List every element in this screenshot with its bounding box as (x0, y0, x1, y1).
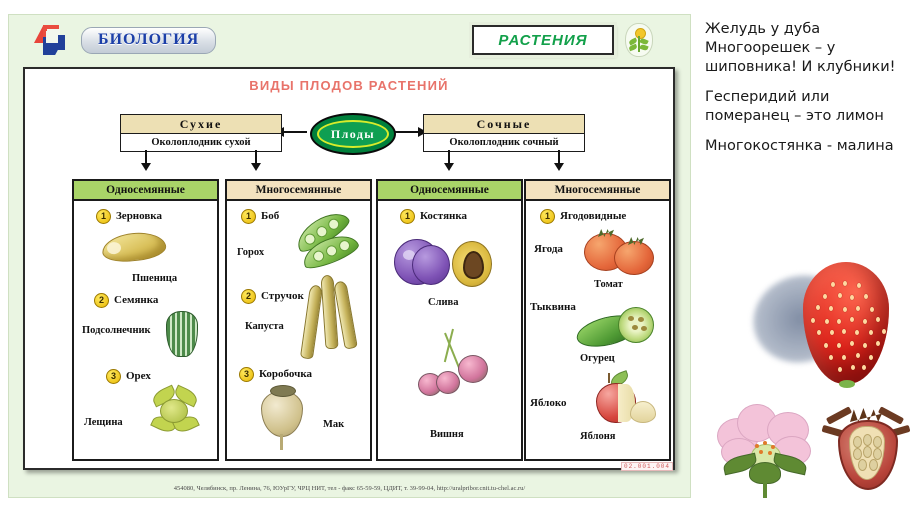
column-body: 1Боб Горох 2Стручок Капуста (227, 201, 370, 461)
topic-label: РАСТЕНИЯ (498, 32, 587, 49)
entry-term-label: Орех (126, 370, 151, 382)
entry-term: 1Зерновка (96, 209, 162, 224)
column-header: Односемянные (74, 181, 217, 201)
strawberry-photo (795, 262, 900, 392)
biology-poster: БИОЛОГИЯ РАСТЕНИЯ ВИДЫ ПЛОДОВ РАСТЕНИЙ П… (8, 14, 691, 498)
entry-number: 1 (540, 209, 555, 224)
column-header: Многосемянные (526, 181, 669, 201)
poppy-capsule-drawing (261, 391, 303, 437)
column-dry-one-seed: Односемянные 1Зерновка Пшеница 2Семянка … (72, 179, 219, 461)
branch-box-juicy: Сочные Околоплодник сочный (423, 114, 585, 152)
sunflower-icon (625, 23, 653, 57)
plum-half-drawing (452, 241, 492, 287)
entry-plant: Пшеница (132, 273, 177, 284)
entry-number: 3 (239, 367, 254, 382)
entry-plant: Томат (594, 279, 623, 290)
branch-dry-subtitle: Околоплодник сухой (121, 134, 281, 151)
entry-term: 2Семянка (94, 293, 158, 308)
column-juicy-many-seed: Многосемянные 1Ягодовидные Ягода Томат Т… (524, 179, 671, 461)
column-body: 1Зерновка Пшеница 2Семянка Подсолнечник … (74, 201, 217, 461)
root-node-label: Плоды (331, 127, 375, 142)
entry-number: 1 (96, 209, 111, 224)
entry-term: 3Коробочка (239, 367, 312, 382)
branch-box-dry: Сухие Околоплодник сухой (120, 114, 282, 152)
logo-mark-icon (34, 25, 68, 55)
column-dry-many-seed: Многосемянные 1Боб Горох 2Стручок (225, 179, 372, 461)
arrow-right-icon (395, 131, 419, 133)
branch-dry-title: Сухие (121, 115, 281, 134)
entry-term: 1Ягодовидные (540, 209, 626, 224)
branch-juicy-subtitle: Околоплодник сочный (424, 134, 584, 151)
entry-number: 1 (241, 209, 256, 224)
entry-term-label: Тыквина (530, 301, 576, 313)
hazelnut-drawing (154, 387, 194, 435)
poster-code: 02.001.004 (621, 462, 673, 471)
entry-term: 1Боб (241, 209, 279, 224)
entry-term-label: Зерновка (116, 210, 162, 222)
entry-plant: Мак (323, 419, 344, 430)
wheat-grain-drawing (101, 230, 168, 265)
branch-juicy-title: Сочные (424, 115, 584, 134)
root-node-plody: Плоды (310, 113, 396, 155)
entry-term-label: Костянка (420, 210, 467, 222)
poster-footer: 454080, Челябинск, пр. Ленина, 76, ЮУрГУ… (9, 485, 690, 492)
entry-term-label: Коробочка (259, 368, 312, 380)
entry-term-label: Семянка (114, 294, 158, 306)
cucumber-cross-section-drawing (618, 307, 654, 343)
arrow-down-icon (255, 150, 257, 164)
subject-badge: БИОЛОГИЯ (81, 27, 216, 54)
entry-term: 1Костянка (400, 209, 467, 224)
topic-badge: РАСТЕНИЯ (472, 25, 614, 55)
entry-plant: Капуста (245, 321, 284, 332)
arrow-down-icon (145, 150, 147, 164)
entry-plant: Вишня (430, 429, 464, 440)
rose-hip-flower-drawing (715, 400, 820, 500)
arrow-down-icon (558, 150, 560, 164)
entry-plant: Слива (428, 297, 458, 308)
entry-number: 2 (241, 289, 256, 304)
entry-number: 1 (400, 209, 415, 224)
tomato-drawing (614, 241, 654, 275)
entry-plant: Подсолнечник (82, 325, 151, 336)
subject-label: БИОЛОГИЯ (98, 31, 199, 48)
notes-panel: Желудь у дуба Многоорешек – у шиповника!… (705, 20, 905, 167)
entry-number: 3 (106, 369, 121, 384)
column-header: Односемянные (378, 181, 521, 201)
entry-term-label: Боб (261, 210, 279, 222)
sunflower-seed-drawing (166, 311, 198, 357)
entry-term-label: Стручок (261, 290, 304, 302)
entry-plant: Лещина (84, 417, 123, 428)
entry-term-label: Ягодовидные (560, 210, 626, 222)
entry-term-label: Ягода (534, 243, 563, 255)
entry-plant: Горох (237, 247, 264, 258)
plum-drawing (412, 245, 450, 285)
column-body: 1Ягодовидные Ягода Томат Тыквина Огурец … (526, 201, 669, 461)
apple-drawing (588, 373, 658, 429)
page-title: ВИДЫ ПЛОДОВ РАСТЕНИЙ (25, 78, 673, 93)
entry-term-label: Яблоко (530, 397, 567, 409)
entry-number: 2 (94, 293, 109, 308)
column-juicy-one-seed: Односемянные 1Костянка Слива (376, 179, 523, 461)
entry-plant: Яблоня (580, 431, 615, 442)
note-text: Многокостянка - малина (705, 137, 905, 156)
poster-header: БИОЛОГИЯ РАСТЕНИЯ (9, 15, 690, 65)
note-text: Желудь у дуба Многоорешек – у шиповника!… (705, 20, 905, 77)
arrow-left-icon (283, 131, 307, 133)
arrow-down-icon (448, 150, 450, 164)
diagram-panel: ВИДЫ ПЛОДОВ РАСТЕНИЙ Плоды Сухие Околопл… (23, 67, 675, 470)
entry-plant: Огурец (580, 353, 615, 364)
entry-term: 3Орех (106, 369, 151, 384)
screenshot-root: БИОЛОГИЯ РАСТЕНИЯ ВИДЫ ПЛОДОВ РАСТЕНИЙ П… (0, 0, 910, 512)
column-header: Многосемянные (227, 181, 370, 201)
column-body: 1Костянка Слива Вишня (378, 201, 521, 461)
note-text: Гесперидий или померанец – это лимон (705, 88, 905, 126)
rose-hip-cross-section-drawing (820, 398, 910, 502)
cherry-drawing (408, 329, 488, 399)
entry-term: 2Стручок (241, 289, 304, 304)
